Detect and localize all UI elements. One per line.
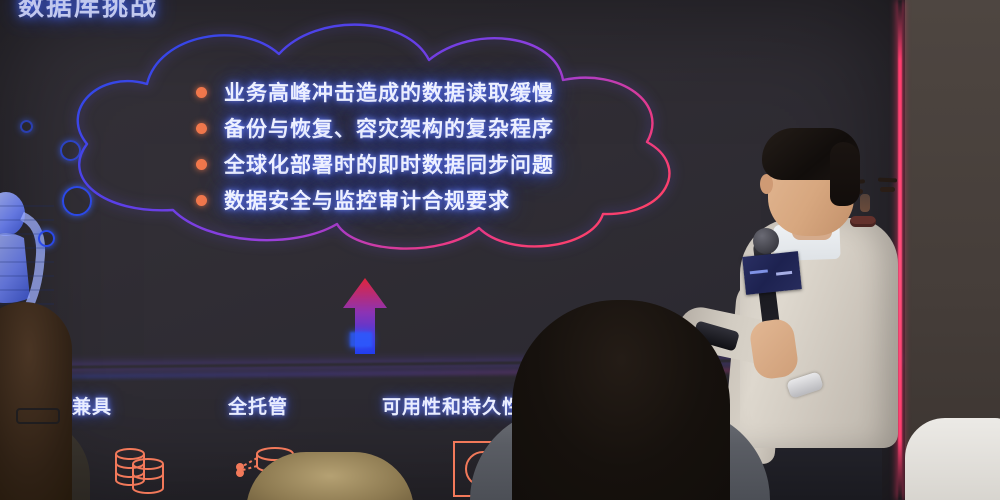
bullet-dot-icon [196, 123, 207, 134]
bullet-text: 数据安全与监控审计合规要求 [224, 185, 510, 215]
slide-bullet-list: 业务高峰冲击造成的数据读取缓慢 备份与恢复、容灾架构的复杂程序 全球化部署时的即… [196, 74, 554, 218]
bullet-text: 业务高峰冲击造成的数据读取缓慢 [224, 77, 554, 107]
list-item: 备份与恢复、容灾架构的复杂程序 [196, 110, 554, 146]
list-item: 全球化部署时的即时数据同步问题 [196, 146, 554, 182]
audience-member-center [512, 300, 730, 500]
feature-2: 全托管 [228, 392, 288, 419]
screen-artifact [350, 332, 372, 347]
audience-member-far-left [0, 302, 72, 500]
eye [880, 187, 895, 192]
feature-label: 全托管 [228, 392, 288, 419]
screenshot-root: 数据库挑战 [0, 0, 1000, 500]
eyebrow [878, 178, 897, 183]
database-stack-icon [110, 440, 170, 500]
list-item: 业务高峰冲击造成的数据读取缓慢 [196, 74, 554, 110]
microphone-head-icon [753, 228, 779, 254]
mouth [850, 216, 876, 227]
bullet-text: 备份与恢复、容灾架构的复杂程序 [224, 113, 554, 143]
decorative-ring-icon [20, 120, 33, 133]
bullet-text: 全球化部署时的即时数据同步问题 [224, 149, 554, 179]
bullet-dot-icon [196, 87, 207, 98]
bullet-dot-icon [196, 195, 207, 206]
presenter-hair-side [830, 142, 860, 206]
microphone-flag [742, 251, 802, 295]
decorative-ring-icon [38, 230, 55, 247]
list-item: 数据安全与监控审计合规要求 [196, 182, 554, 218]
glasses-icon [16, 408, 60, 424]
bullet-dot-icon [196, 159, 207, 170]
nose [860, 194, 870, 212]
audience-member-right [905, 418, 1000, 500]
